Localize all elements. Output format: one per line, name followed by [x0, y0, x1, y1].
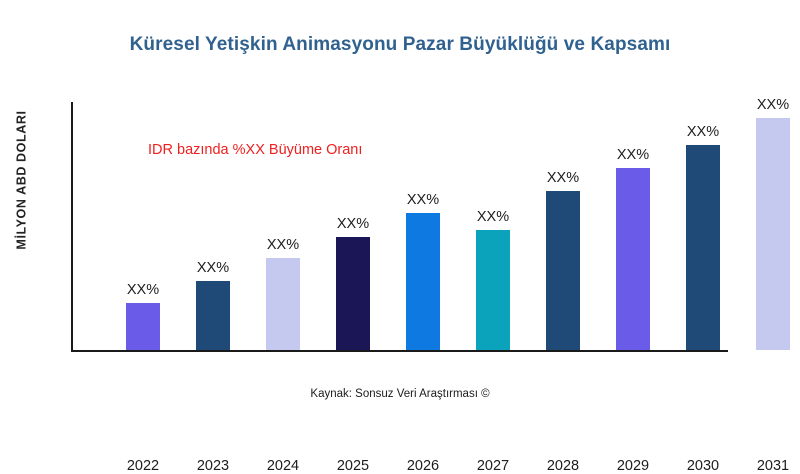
x-tick-2022: 2022	[108, 458, 178, 474]
chart-title: Küresel Yetişkin Animasyonu Pazar Büyükl…	[0, 34, 800, 56]
bar-value-label-2027: XX%	[477, 209, 509, 225]
y-axis-label: MİLYON ABD DOLARI	[15, 110, 29, 249]
bar-slot-2023: XX%	[178, 102, 248, 350]
bar-slot-2025: XX%	[318, 102, 388, 350]
bar-2026[interactable]	[406, 213, 440, 350]
bar-slot-2028: XX%	[528, 102, 598, 350]
bar-2024[interactable]	[266, 258, 300, 350]
bar-2022[interactable]	[126, 303, 160, 350]
x-tick-2024: 2024	[248, 458, 318, 474]
bar-slot-2031: XX%	[738, 102, 800, 350]
bar-value-label-2024: XX%	[267, 237, 299, 253]
bar-2030[interactable]	[686, 145, 720, 350]
x-tick-2031: 2031	[738, 458, 800, 474]
bar-value-label-2022: XX%	[127, 282, 159, 298]
plot-area: XX%XX%XX%XX%XX%XX%XX%XX%XX%XX% 202220232…	[71, 102, 728, 350]
bar-value-label-2026: XX%	[407, 192, 439, 208]
bar-value-label-2029: XX%	[617, 147, 649, 163]
x-tick-2023: 2023	[178, 458, 248, 474]
y-axis-label-wrap: MİLYON ABD DOLARI	[0, 0, 44, 360]
bar-slot-2022: XX%	[108, 102, 178, 350]
bar-2027[interactable]	[476, 230, 510, 350]
bar-2031[interactable]	[756, 118, 790, 350]
bar-slot-2026: XX%	[388, 102, 458, 350]
bar-2025[interactable]	[336, 237, 370, 350]
x-tick-2030: 2030	[668, 458, 738, 474]
bar-slot-2027: XX%	[458, 102, 528, 350]
bar-value-label-2028: XX%	[547, 170, 579, 186]
source-caption: Kaynak: Sonsuz Veri Araştırması ©	[0, 388, 800, 400]
bar-2028[interactable]	[546, 191, 580, 350]
bar-2029[interactable]	[616, 168, 650, 350]
bar-slot-2029: XX%	[598, 102, 668, 350]
bar-value-label-2030: XX%	[687, 124, 719, 140]
bar-slot-2030: XX%	[668, 102, 738, 350]
bar-chart: Küresel Yetişkin Animasyonu Pazar Büyükl…	[0, 0, 800, 450]
bar-slot-2024: XX%	[248, 102, 318, 350]
x-tick-2028: 2028	[528, 458, 598, 474]
y-axis-line	[71, 102, 73, 350]
x-tick-2029: 2029	[598, 458, 668, 474]
x-axis-line	[71, 350, 728, 352]
bar-2023[interactable]	[196, 281, 230, 350]
x-tick-2027: 2027	[458, 458, 528, 474]
x-tick-2025: 2025	[318, 458, 388, 474]
x-tick-2026: 2026	[388, 458, 458, 474]
bar-value-label-2025: XX%	[337, 216, 369, 232]
bar-value-label-2023: XX%	[197, 260, 229, 276]
bar-value-label-2031: XX%	[757, 97, 789, 113]
